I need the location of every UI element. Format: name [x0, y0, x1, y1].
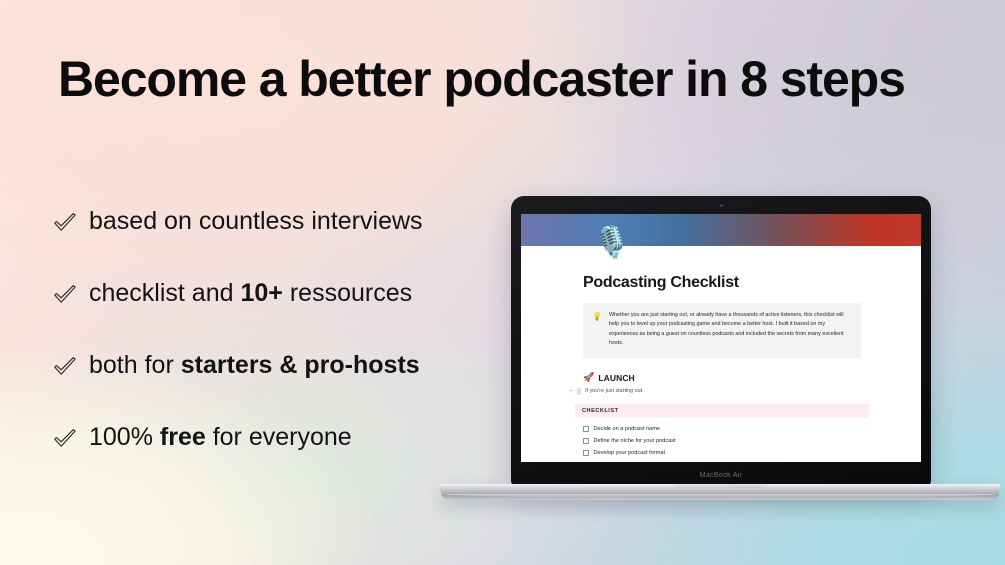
laptop-base-notch: [672, 484, 768, 488]
list-item-label: based on countless interviews: [89, 206, 423, 236]
callout-block: 💡 Whether you are just starting out, or …: [583, 303, 861, 358]
checkbox-icon[interactable]: [583, 450, 589, 456]
checkbox-icon[interactable]: [583, 426, 589, 432]
table-row[interactable]: Define the niche for your podcast: [583, 435, 861, 447]
document-title[interactable]: Podcasting Checklist: [583, 274, 861, 292]
page-title: Become a better podcaster in 8 steps: [58, 52, 958, 106]
list-item-label: both for starters & pro-hosts: [89, 350, 420, 380]
checklist-item-label: Develop your podcast format: [594, 450, 666, 456]
list-item: checklist and 10+ ressources: [52, 270, 482, 316]
list-item-label: 100% free for everyone: [89, 422, 352, 452]
checkbox-icon[interactable]: [583, 438, 589, 444]
laptop-mockup: 🎙️ Podcasting Checklist 💡 Whether you ar…: [440, 196, 1000, 516]
outline-check-icon: [52, 354, 78, 380]
checklist-header: CHECKLIST: [575, 404, 869, 418]
laptop-base-edge: [444, 494, 996, 498]
section-subtitle-row: + If you're just starting out.: [569, 388, 861, 395]
table-row[interactable]: Develop your podcast format: [583, 447, 861, 459]
table-row[interactable]: Decide on a podcast name: [583, 423, 861, 435]
rocket-icon: 🚀: [583, 373, 594, 382]
section-subtitle: If you're just starting out.: [585, 388, 644, 394]
laptop-screen: 🎙️ Podcasting Checklist 💡 Whether you ar…: [521, 214, 921, 462]
table-row[interactable]: Get decent audio gear: [583, 459, 861, 462]
feature-bullet-list: based on countless interviews checklist …: [52, 198, 482, 460]
callout-text: Whether you are just starting out, or al…: [609, 311, 851, 349]
list-item: 100% free for everyone: [52, 414, 482, 460]
section-heading-label: LAUNCH: [598, 373, 634, 383]
list-item: based on countless interviews: [52, 198, 482, 244]
section-heading: 🚀 LAUNCH: [583, 373, 861, 383]
checklist-item-label: Decide on a podcast name: [594, 426, 661, 432]
laptop-model-label: MacBook Air: [511, 472, 931, 479]
laptop-lid: 🎙️ Podcasting Checklist 💡 Whether you ar…: [511, 196, 931, 486]
page-cover-banner: [521, 214, 921, 246]
list-item: both for starters & pro-hosts: [52, 342, 482, 388]
webcam-dot: [720, 204, 723, 207]
page-body: Podcasting Checklist 💡 Whether you are j…: [521, 246, 921, 462]
outline-check-icon: [52, 210, 78, 236]
drag-handle-icon[interactable]: [577, 388, 581, 395]
studio-microphone-icon: 🎙️: [593, 228, 630, 258]
list-item-label: checklist and 10+ ressources: [89, 278, 412, 308]
laptop-base: [440, 484, 1000, 500]
checklist-item-label: Define the niche for your podcast: [594, 438, 676, 444]
lightbulb-icon: 💡: [592, 311, 602, 349]
notion-page: 🎙️ Podcasting Checklist 💡 Whether you ar…: [521, 214, 921, 462]
outline-check-icon: [52, 426, 78, 452]
add-block-icon[interactable]: +: [569, 388, 573, 395]
outline-check-icon: [52, 282, 78, 308]
